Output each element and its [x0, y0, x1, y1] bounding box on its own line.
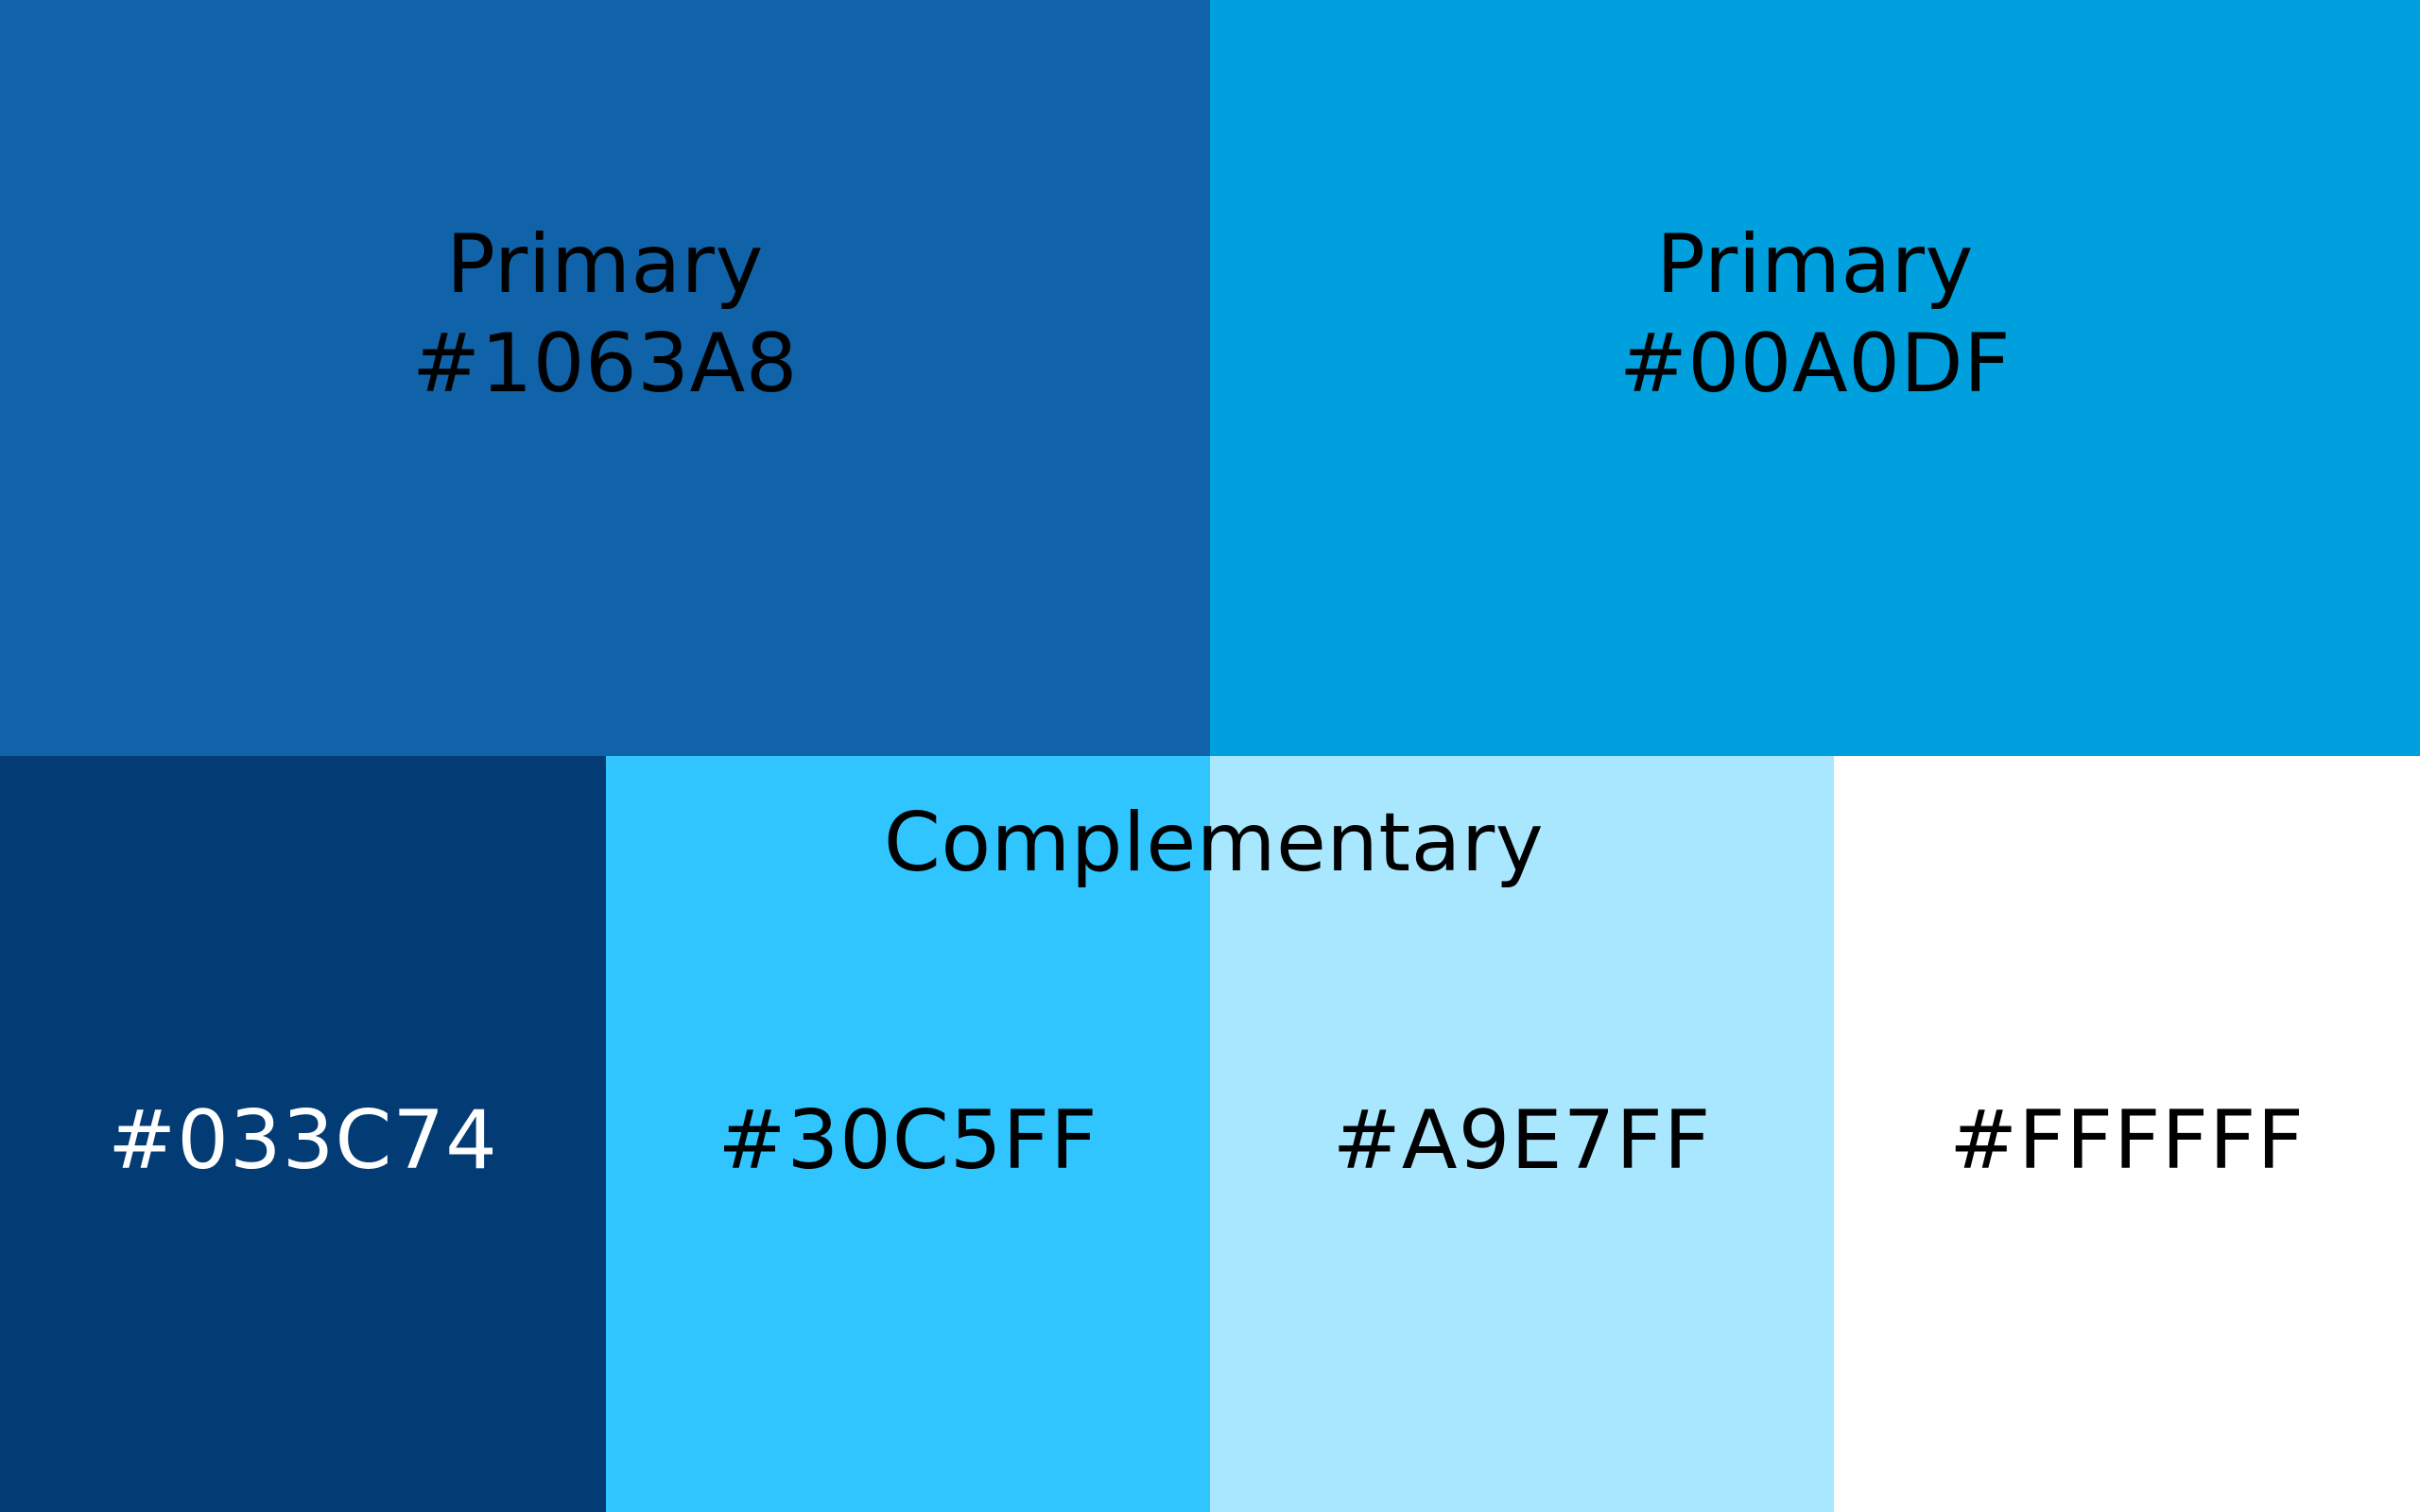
swatch-caption: Primary #1063A8	[0, 215, 1210, 414]
color-palette: Primary #1063A8 Primary #00A0DF #033C74 …	[0, 0, 2420, 1512]
swatch-role-label: Primary	[1210, 215, 2420, 315]
swatch-caption: Primary #00A0DF	[1210, 215, 2420, 414]
swatch-hex-label: #1063A8	[0, 315, 1210, 414]
swatch-primary-00a0df[interactable]: Primary #00A0DF	[1210, 0, 2420, 756]
swatch-ffffff[interactable]: #FFFFFF	[1834, 756, 2420, 1512]
swatch-primary-1063a8[interactable]: Primary #1063A8	[0, 0, 1210, 756]
swatch-hex-label: #30C5FF	[606, 1096, 1210, 1186]
swatch-hex-label: #A9E7FF	[1210, 1096, 1834, 1186]
swatch-hex-label: #FFFFFF	[1834, 1096, 2420, 1186]
swatch-a9e7ff[interactable]: #A9E7FF	[1210, 756, 1834, 1512]
swatch-033c74[interactable]: #033C74	[0, 756, 606, 1512]
swatch-hex-label: #00A0DF	[1210, 315, 2420, 414]
swatch-role-label: Primary	[0, 215, 1210, 315]
swatch-hex-label: #033C74	[0, 1096, 606, 1186]
swatch-30c5ff[interactable]: #30C5FF	[606, 756, 1210, 1512]
